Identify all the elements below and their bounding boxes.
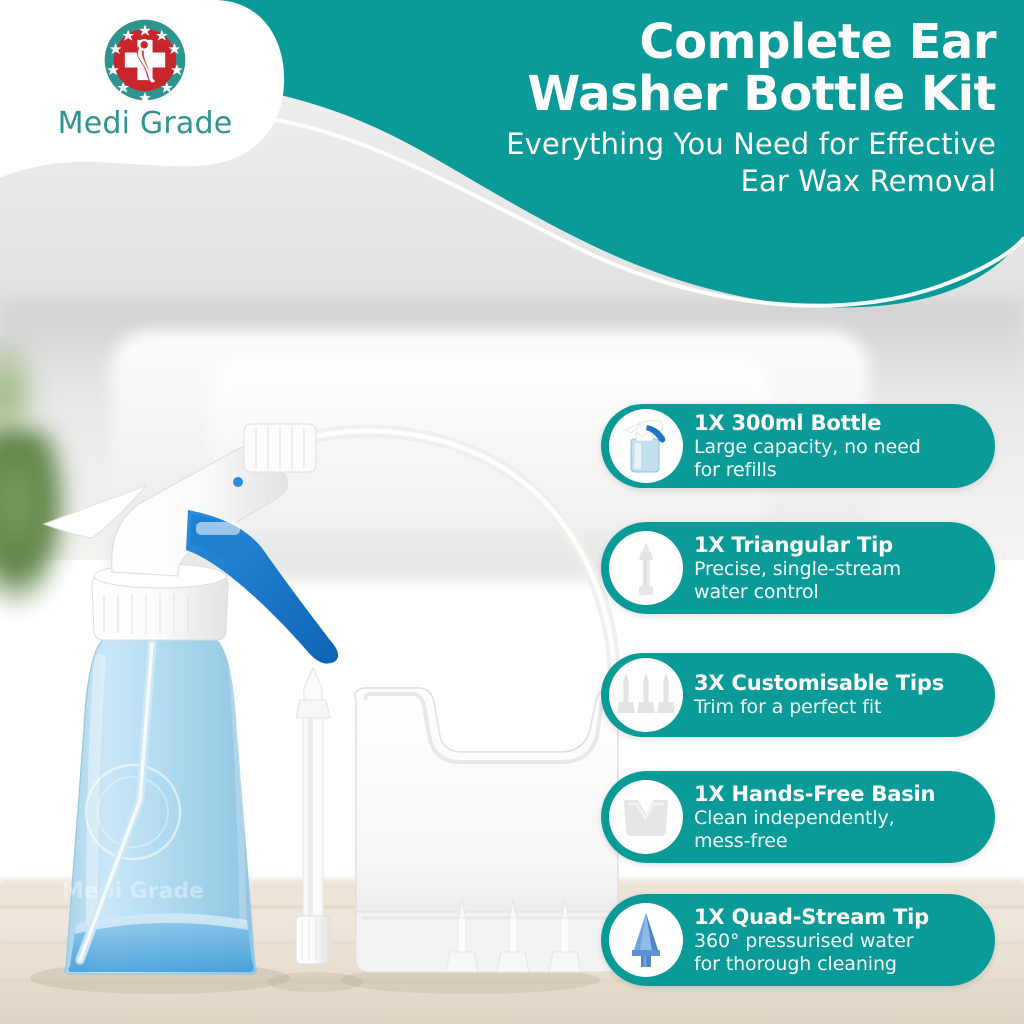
page-subtitle-line1: Everything You Need for Effective	[376, 126, 996, 163]
feature-item-quad-stream-tip[interactable]: 1X Quad-Stream Tip 360° pressurised wate…	[601, 894, 995, 986]
feature-desc-line1: Precise, single-stream	[694, 558, 981, 581]
feature-text: 1X Quad-Stream Tip 360° pressurised wate…	[683, 905, 995, 976]
page-title-line1: Complete Ear	[376, 16, 996, 68]
basin-icon	[620, 796, 672, 838]
feature-title: 3X Customisable Tips	[694, 671, 981, 696]
feature-title: 1X Hands-Free Basin	[694, 782, 981, 807]
feature-icon-badge	[609, 780, 683, 854]
feature-text: 1X Triangular Tip Precise, single-stream…	[683, 533, 995, 604]
feature-desc-line1: Trim for a perfect fit	[694, 696, 981, 719]
product-photo: Medi Grade	[0, 400, 620, 1024]
three-tips-icon	[617, 671, 675, 719]
feature-desc-line2: for thorough cleaning	[694, 953, 981, 976]
feature-desc-line2: mess-free	[694, 830, 981, 853]
feature-icon-badge	[609, 531, 683, 605]
brand-wordmark: Medi Grade	[58, 106, 233, 141]
feature-icon-badge	[609, 658, 683, 732]
svg-text:Medi Grade: Medi Grade	[62, 879, 204, 904]
triangular-tip-icon	[629, 540, 663, 596]
header-text-block: Complete Ear Washer Bottle Kit Everythin…	[376, 16, 996, 200]
feature-item-bottle[interactable]: 1X 300ml Bottle Large capacity, no need …	[601, 404, 995, 488]
page-subtitle-line2: Ear Wax Removal	[376, 163, 996, 200]
spray-bottle-icon	[621, 419, 671, 473]
feature-text: 1X 300ml Bottle Large capacity, no need …	[683, 411, 995, 482]
feature-desc-line1: 360° pressurised water	[694, 930, 981, 953]
feature-desc-line2: water control	[694, 581, 981, 604]
feature-item-basin[interactable]: 1X Hands-Free Basin Clean independently,…	[601, 771, 995, 863]
feature-icon-badge	[609, 409, 683, 483]
feature-text: 3X Customisable Tips Trim for a perfect …	[683, 671, 995, 719]
feature-list: 1X 300ml Bottle Large capacity, no need …	[601, 404, 1001, 1020]
feature-desc-line2: for refills	[694, 459, 981, 482]
feature-title: 1X Triangular Tip	[694, 533, 981, 558]
feature-title: 1X 300ml Bottle	[694, 411, 981, 436]
feature-desc-line1: Clean independently,	[694, 807, 981, 830]
brand-logo[interactable]: Medi Grade	[0, 8, 290, 158]
feature-title: 1X Quad-Stream Tip	[694, 905, 981, 930]
page-title-line2: Washer Bottle Kit	[376, 68, 996, 120]
feature-text: 1X Hands-Free Basin Clean independently,…	[683, 782, 995, 853]
feature-item-customisable-tips[interactable]: 3X Customisable Tips Trim for a perfect …	[601, 653, 995, 737]
feature-desc-line1: Large capacity, no need	[694, 436, 981, 459]
medical-cross-person-badge-icon	[103, 18, 187, 102]
feature-icon-badge	[609, 903, 683, 977]
quad-stream-tip-icon	[626, 912, 666, 968]
product-infographic: Medi Grade	[0, 0, 1024, 1024]
feature-item-triangular-tip[interactable]: 1X Triangular Tip Precise, single-stream…	[601, 522, 995, 614]
